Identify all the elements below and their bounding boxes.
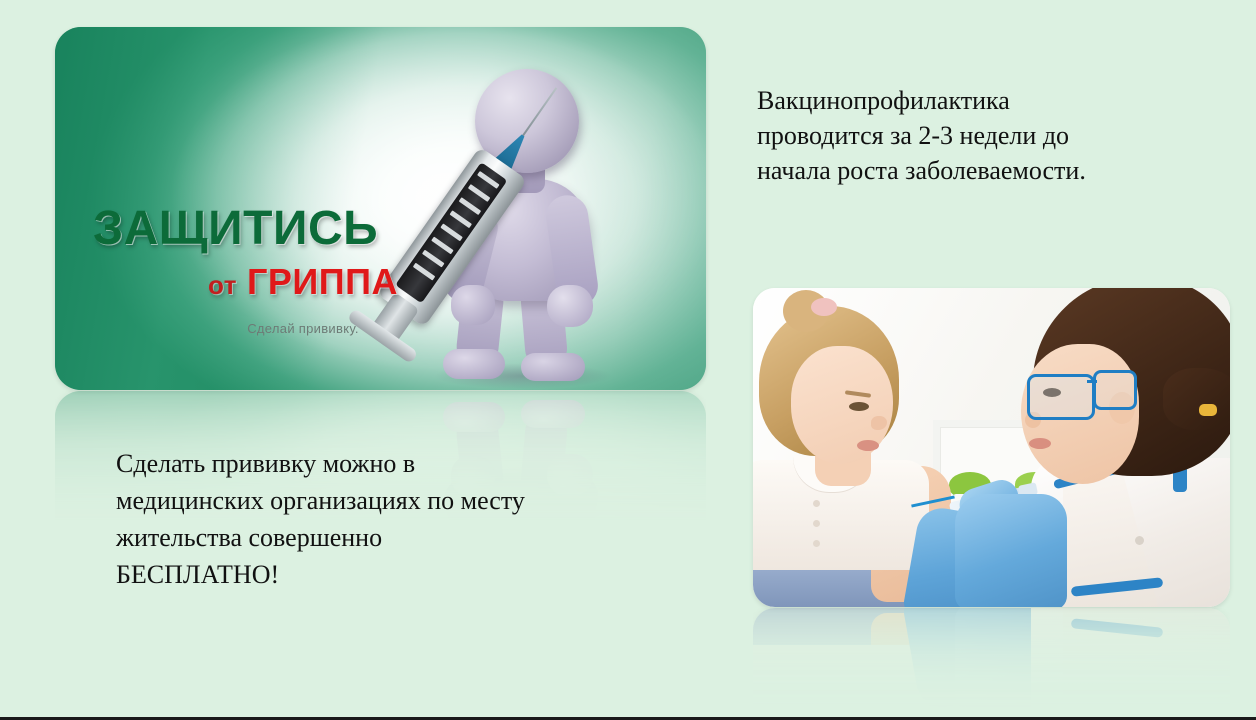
top-right-line-1: Вакцинопрофилактика	[757, 84, 1197, 119]
poster-subheadline: от ГРИППА	[93, 264, 513, 300]
nurse-lips	[1029, 438, 1051, 449]
nurse-eyeglasses-bridge	[1087, 380, 1097, 383]
slide-canvas: ЗАЩИТИСЬ от ГРИППА Сделай прививку.	[0, 0, 1256, 720]
nurse-braid	[1163, 368, 1230, 430]
top-right-line-2: проводится за 2-3 недели до	[757, 119, 1197, 154]
poster-subheadline-big: ГРИППА	[247, 261, 398, 302]
poster-headline: ЗАЩИТИСЬ	[93, 205, 513, 253]
syringe-needle	[520, 87, 557, 139]
poster-caption: Сделай прививку.	[93, 322, 513, 335]
poster-subheadline-small: от	[208, 270, 237, 300]
bottom-left-line-2: медицинских организациях по месту	[116, 483, 676, 520]
text-block-top-right: Вакцинопрофилактика проводится за 2-3 не…	[757, 84, 1197, 188]
bottom-left-line-3: жительства совершенно	[116, 520, 676, 557]
nurse-hair-band	[1199, 404, 1217, 416]
top-right-line-3: начала роста заболеваемости.	[757, 154, 1197, 189]
photo-frame	[753, 288, 1230, 607]
photo-reflection-tint	[753, 608, 1230, 716]
nurse-glove-right	[955, 494, 1067, 607]
nurse-eyeglasses-right-lens	[1093, 370, 1137, 410]
bottom-left-line-4: БЕСПЛАТНО!	[116, 557, 676, 594]
nurse-eyeglasses-left-lens	[1027, 374, 1095, 420]
photo-reflection-copy	[753, 608, 1230, 716]
nurse-coat-button	[1135, 536, 1144, 545]
child-hair-tie	[811, 298, 837, 316]
child-eye	[849, 402, 869, 411]
child-lips	[857, 440, 879, 451]
bottom-left-line-1: Сделать прививку можно в	[116, 446, 676, 483]
poster-text-block: ЗАЩИТИСЬ от ГРИППА Сделай прививку.	[93, 205, 513, 335]
photo-reflection	[753, 608, 1230, 716]
figure-right-hand	[547, 285, 593, 327]
flu-poster[interactable]: ЗАЩИТИСЬ от ГРИППА Сделай прививку.	[55, 27, 706, 390]
text-block-bottom-left: Сделать прививку можно в медицинских орг…	[116, 446, 676, 594]
poster-background: ЗАЩИТИСЬ от ГРИППА Сделай прививку.	[55, 27, 706, 390]
vaccination-photo[interactable]	[753, 288, 1230, 607]
figure-right-foot	[521, 353, 585, 381]
